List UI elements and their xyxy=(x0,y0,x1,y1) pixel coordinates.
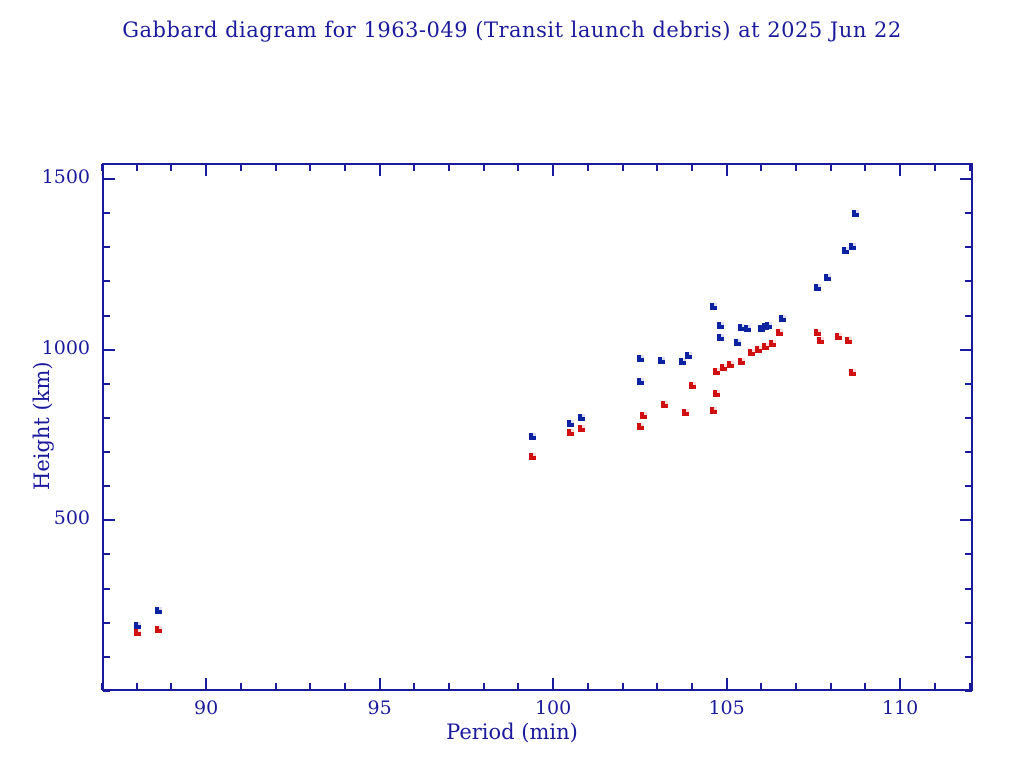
y-tick-300 xyxy=(103,588,110,590)
y-tick-right-0 xyxy=(965,690,972,692)
x-tick-91 xyxy=(240,683,242,690)
data-point-apogee xyxy=(637,378,644,385)
x-tick-88 xyxy=(136,683,138,690)
x-tick-top-98 xyxy=(483,164,485,171)
y-tick-500 xyxy=(103,519,115,521)
data-point-apogee xyxy=(658,357,665,364)
x-tick-label-100: 100 xyxy=(523,697,583,719)
data-point-perigee xyxy=(755,346,762,353)
y-tick-right-1200 xyxy=(965,280,972,282)
x-tick-top-106 xyxy=(760,164,762,171)
x-tick-top-99 xyxy=(517,164,519,171)
x-tick-97 xyxy=(448,683,450,690)
data-point-apogee xyxy=(567,420,574,427)
x-tick-top-109 xyxy=(864,164,866,171)
x-tick-90 xyxy=(205,678,207,690)
x-tick-96 xyxy=(413,683,415,690)
data-point-apogee xyxy=(744,325,751,332)
data-point-perigee xyxy=(134,629,141,636)
data-point-perigee xyxy=(769,340,776,347)
y-tick-right-200 xyxy=(965,622,972,624)
x-tick-110 xyxy=(899,678,901,690)
x-tick-top-101 xyxy=(587,164,589,171)
data-point-perigee xyxy=(713,390,720,397)
y-tick-label-1500: 1500 xyxy=(10,166,90,188)
data-point-perigee xyxy=(710,407,717,414)
data-point-apogee xyxy=(685,352,692,359)
x-tick-label-95: 95 xyxy=(350,697,410,719)
data-point-apogee xyxy=(717,334,724,341)
x-tick-top-105 xyxy=(726,164,728,176)
x-tick-102 xyxy=(622,683,624,690)
x-tick-98 xyxy=(483,683,485,690)
data-point-apogee xyxy=(710,303,717,310)
x-tick-105 xyxy=(726,678,728,690)
gabbard-diagram-page: Gabbard diagram for 1963-049 (Transit la… xyxy=(0,0,1024,768)
page-title: Gabbard diagram for 1963-049 (Transit la… xyxy=(0,18,1024,42)
data-point-perigee xyxy=(682,409,689,416)
x-tick-top-102 xyxy=(622,164,624,171)
y-tick-400 xyxy=(103,553,110,555)
data-point-perigee xyxy=(762,343,769,350)
y-tick-1500 xyxy=(103,178,115,180)
y-tick-right-900 xyxy=(965,383,972,385)
x-tick-top-100 xyxy=(552,164,554,176)
x-tick-top-92 xyxy=(275,164,277,171)
x-tick-top-110 xyxy=(899,164,901,176)
data-point-apogee xyxy=(852,210,859,217)
y-tick-label-1000: 1000 xyxy=(10,337,90,359)
data-point-apogee xyxy=(679,358,686,365)
x-tick-top-88 xyxy=(136,164,138,171)
data-point-apogee xyxy=(529,433,536,440)
x-tick-top-95 xyxy=(379,164,381,176)
x-tick-top-87 xyxy=(101,164,103,171)
y-tick-900 xyxy=(103,383,110,385)
y-tick-right-1500 xyxy=(960,178,972,180)
data-point-apogee xyxy=(842,247,849,254)
x-tick-95 xyxy=(379,678,381,690)
x-tick-top-97 xyxy=(448,164,450,171)
data-point-perigee xyxy=(845,337,852,344)
y-tick-700 xyxy=(103,451,110,453)
y-axis-label: Height (km) xyxy=(30,361,54,490)
x-tick-top-108 xyxy=(830,164,832,171)
x-tick-87 xyxy=(101,683,103,690)
x-axis-label: Period (min) xyxy=(0,720,1024,744)
x-tick-label-105: 105 xyxy=(697,697,757,719)
y-tick-right-600 xyxy=(965,485,972,487)
x-tick-label-110: 110 xyxy=(870,697,930,719)
y-tick-right-1400 xyxy=(965,212,972,214)
data-point-perigee xyxy=(835,333,842,340)
x-tick-111 xyxy=(934,683,936,690)
x-tick-108 xyxy=(830,683,832,690)
x-tick-103 xyxy=(656,683,658,690)
data-point-apogee xyxy=(734,339,741,346)
y-tick-right-500 xyxy=(960,519,972,521)
y-tick-1000 xyxy=(103,349,115,351)
y-tick-200 xyxy=(103,622,110,624)
x-tick-112 xyxy=(969,683,971,690)
x-tick-94 xyxy=(344,683,346,690)
x-tick-93 xyxy=(309,683,311,690)
x-tick-106 xyxy=(760,683,762,690)
y-tick-800 xyxy=(103,417,110,419)
x-tick-107 xyxy=(795,683,797,690)
y-tick-0 xyxy=(103,690,110,692)
x-tick-100 xyxy=(552,678,554,690)
data-point-apogee xyxy=(637,355,644,362)
x-tick-top-91 xyxy=(240,164,242,171)
data-point-perigee xyxy=(817,337,824,344)
data-point-apogee xyxy=(738,324,745,331)
data-point-perigee xyxy=(713,368,720,375)
data-point-apogee xyxy=(779,315,786,322)
x-tick-top-107 xyxy=(795,164,797,171)
y-tick-right-700 xyxy=(965,451,972,453)
x-tick-top-96 xyxy=(413,164,415,171)
data-point-perigee xyxy=(849,369,856,376)
data-point-perigee xyxy=(637,423,644,430)
data-point-perigee xyxy=(567,429,574,436)
y-tick-right-1000 xyxy=(960,349,972,351)
y-tick-right-1100 xyxy=(965,315,972,317)
data-point-apogee xyxy=(814,284,821,291)
data-point-perigee xyxy=(640,412,647,419)
x-tick-top-93 xyxy=(309,164,311,171)
x-tick-label-90: 90 xyxy=(176,697,236,719)
data-point-perigee xyxy=(814,329,821,336)
data-point-apogee xyxy=(717,322,724,329)
data-point-perigee xyxy=(738,358,745,365)
y-tick-600 xyxy=(103,485,110,487)
x-tick-top-94 xyxy=(344,164,346,171)
x-tick-92 xyxy=(275,683,277,690)
data-point-perigee xyxy=(727,361,734,368)
data-point-apogee xyxy=(824,274,831,281)
data-point-perigee xyxy=(529,453,536,460)
data-point-perigee xyxy=(661,401,668,408)
data-point-perigee xyxy=(155,626,162,633)
x-tick-top-103 xyxy=(656,164,658,171)
x-tick-top-112 xyxy=(969,164,971,171)
y-tick-1400 xyxy=(103,212,110,214)
x-tick-top-104 xyxy=(691,164,693,171)
y-tick-right-300 xyxy=(965,588,972,590)
x-tick-104 xyxy=(691,683,693,690)
y-tick-right-1300 xyxy=(965,246,972,248)
y-tick-right-400 xyxy=(965,553,972,555)
x-tick-109 xyxy=(864,683,866,690)
data-point-apogee xyxy=(849,243,856,250)
data-point-apogee xyxy=(765,322,772,329)
y-tick-right-800 xyxy=(965,417,972,419)
data-point-perigee xyxy=(689,382,696,389)
data-point-perigee xyxy=(720,364,727,371)
y-tick-1100 xyxy=(103,315,110,317)
y-tick-1300 xyxy=(103,246,110,248)
x-tick-101 xyxy=(587,683,589,690)
x-tick-99 xyxy=(517,683,519,690)
data-point-apogee xyxy=(155,607,162,614)
data-point-perigee xyxy=(748,349,755,356)
plot-area xyxy=(102,163,973,691)
x-tick-top-111 xyxy=(934,164,936,171)
x-tick-89 xyxy=(170,683,172,690)
data-point-perigee xyxy=(776,329,783,336)
x-tick-top-89 xyxy=(170,164,172,171)
y-tick-100 xyxy=(103,656,110,658)
y-tick-right-100 xyxy=(965,656,972,658)
data-point-perigee xyxy=(578,425,585,432)
y-tick-1200 xyxy=(103,280,110,282)
y-tick-label-500: 500 xyxy=(10,507,90,529)
x-tick-top-90 xyxy=(205,164,207,176)
data-point-apogee xyxy=(578,414,585,421)
